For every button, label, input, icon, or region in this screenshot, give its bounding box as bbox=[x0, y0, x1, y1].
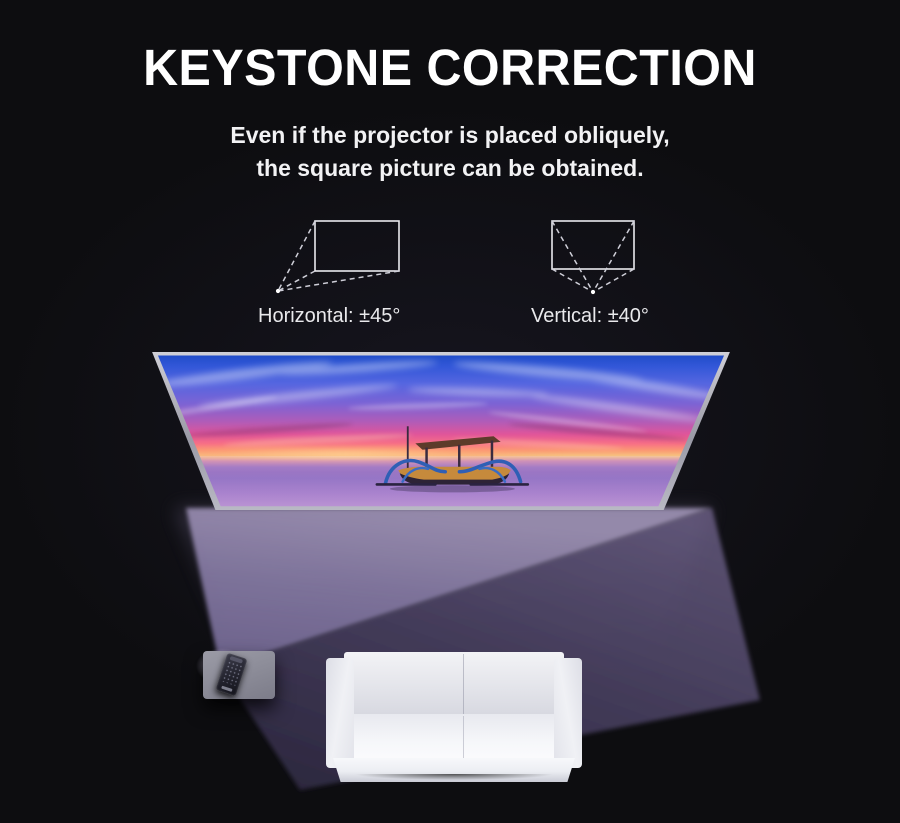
horizontal-keystone-diagram bbox=[270, 213, 406, 304]
projector-grille bbox=[221, 660, 242, 686]
vertical-keystone-diagram bbox=[532, 213, 652, 304]
subtitle-line-1: Even if the projector is placed obliquel… bbox=[0, 119, 900, 152]
keystone-correction-infographic: KEYSTONE CORRECTION Even if the projecto… bbox=[0, 0, 900, 823]
page-title: KEYSTONE CORRECTION bbox=[23, 42, 878, 93]
white-sofa bbox=[318, 644, 590, 784]
sofa-backrest bbox=[344, 652, 564, 718]
projector-badge bbox=[221, 686, 232, 692]
side-table bbox=[203, 651, 275, 699]
sofa-seat-seam bbox=[463, 716, 464, 762]
vertical-keystone-icon bbox=[532, 213, 652, 299]
subtitle-line-2: the square picture can be obtained. bbox=[0, 152, 900, 185]
projection-screen bbox=[148, 352, 734, 510]
page-subtitle: Even if the projector is placed obliquel… bbox=[0, 119, 900, 184]
sofa-arm-left bbox=[326, 658, 354, 768]
vertical-keystone-label: Vertical: ±40° bbox=[531, 305, 649, 328]
horizontal-keystone-icon bbox=[270, 213, 406, 299]
sofa-seat bbox=[342, 714, 566, 762]
projector-device bbox=[215, 653, 247, 697]
sofa-back-seam bbox=[463, 654, 464, 716]
horizontal-keystone-label: Horizontal: ±45° bbox=[258, 305, 400, 328]
outrigger-boat-silhouette bbox=[341, 422, 564, 493]
screen-image-sunset-boat bbox=[148, 352, 734, 510]
sofa-shadow bbox=[322, 774, 586, 790]
sofa-arm-right bbox=[554, 658, 582, 768]
